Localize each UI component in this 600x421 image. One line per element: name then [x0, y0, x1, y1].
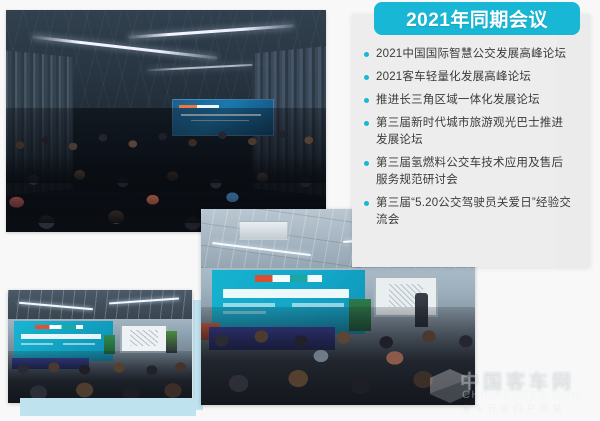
watermark-en-text: CHINABUSES.COM [462, 389, 582, 401]
agenda-item-label: 第三届“5.20公交驾驶员关爱日”经验交流会 [376, 197, 571, 226]
air-conditioner-icon [239, 221, 288, 241]
page-canvas: 2021年同期会议 2021中国国际智慧公交发展高峰论坛 2021客车轻量化发展… [0, 0, 600, 421]
agenda-list-item: 2021客车轻量化发展高峰论坛 [362, 69, 572, 86]
bullet-dot-icon [364, 98, 369, 103]
agenda-title-banner: 2021年同期会议 [374, 2, 580, 35]
agenda-list-item: 第三届“5.20公交驾驶员关爱日”经验交流会 [362, 195, 572, 229]
bullet-dot-icon [364, 52, 369, 57]
forum-audience [8, 351, 192, 403]
auditorium-seat-row [6, 157, 326, 184]
agenda-list: 2021中国国际智慧公交发展高峰论坛 2021客车轻量化发展高峰论坛 推进长三角… [362, 46, 572, 235]
photo-forum-tourism [8, 290, 192, 403]
backdrop-subline [21, 343, 53, 345]
bullet-dot-icon [364, 75, 369, 80]
agenda-item-label: 第三届新时代城市旅游观光巴士推进发展论坛 [376, 117, 563, 146]
backdrop-subline [63, 343, 95, 345]
agenda-list-item: 推进长三角区域一体化发展论坛 [362, 92, 572, 109]
watermark-cn-text: 中国客车网 [460, 367, 575, 394]
backdrop-logo-row [255, 275, 323, 282]
agenda-list-item: 第三届新时代城市旅游观光巴士推进发展论坛 [362, 115, 572, 149]
agenda-item-label: 推进长三角区域一体化发展论坛 [376, 94, 540, 106]
agenda-card: 2021年同期会议 2021中国国际智慧公交发展高峰论坛 2021客车轻量化发展… [352, 14, 590, 267]
backdrop-logo-row [35, 325, 83, 330]
agenda-item-label: 2021中国国际智慧公交发展高峰论坛 [376, 48, 566, 60]
decor-accent-bar [20, 398, 196, 416]
bullet-dot-icon [364, 161, 369, 166]
bullet-dot-icon [364, 201, 369, 206]
forum-whiteboard [120, 324, 168, 353]
backdrop-headline [21, 334, 100, 339]
agenda-item-label: 第三届氢燃料公交车技术应用及售后服务规范研讨会 [376, 157, 563, 186]
forum-speaker [166, 331, 177, 354]
forum-audience [201, 307, 475, 405]
bullet-dot-icon [364, 121, 369, 126]
photo-auditorium [6, 10, 326, 232]
backdrop-headline [223, 289, 349, 297]
watermark-sub-text: 客车行业门户网站 [462, 403, 566, 414]
agenda-list-item: 2021中国国际智慧公交发展高峰论坛 [362, 46, 572, 63]
agenda-list-item: 第三届氢燃料公交车技术应用及售后服务规范研讨会 [362, 155, 572, 189]
agenda-item-label: 2021客车轻量化发展高峰论坛 [376, 71, 531, 83]
